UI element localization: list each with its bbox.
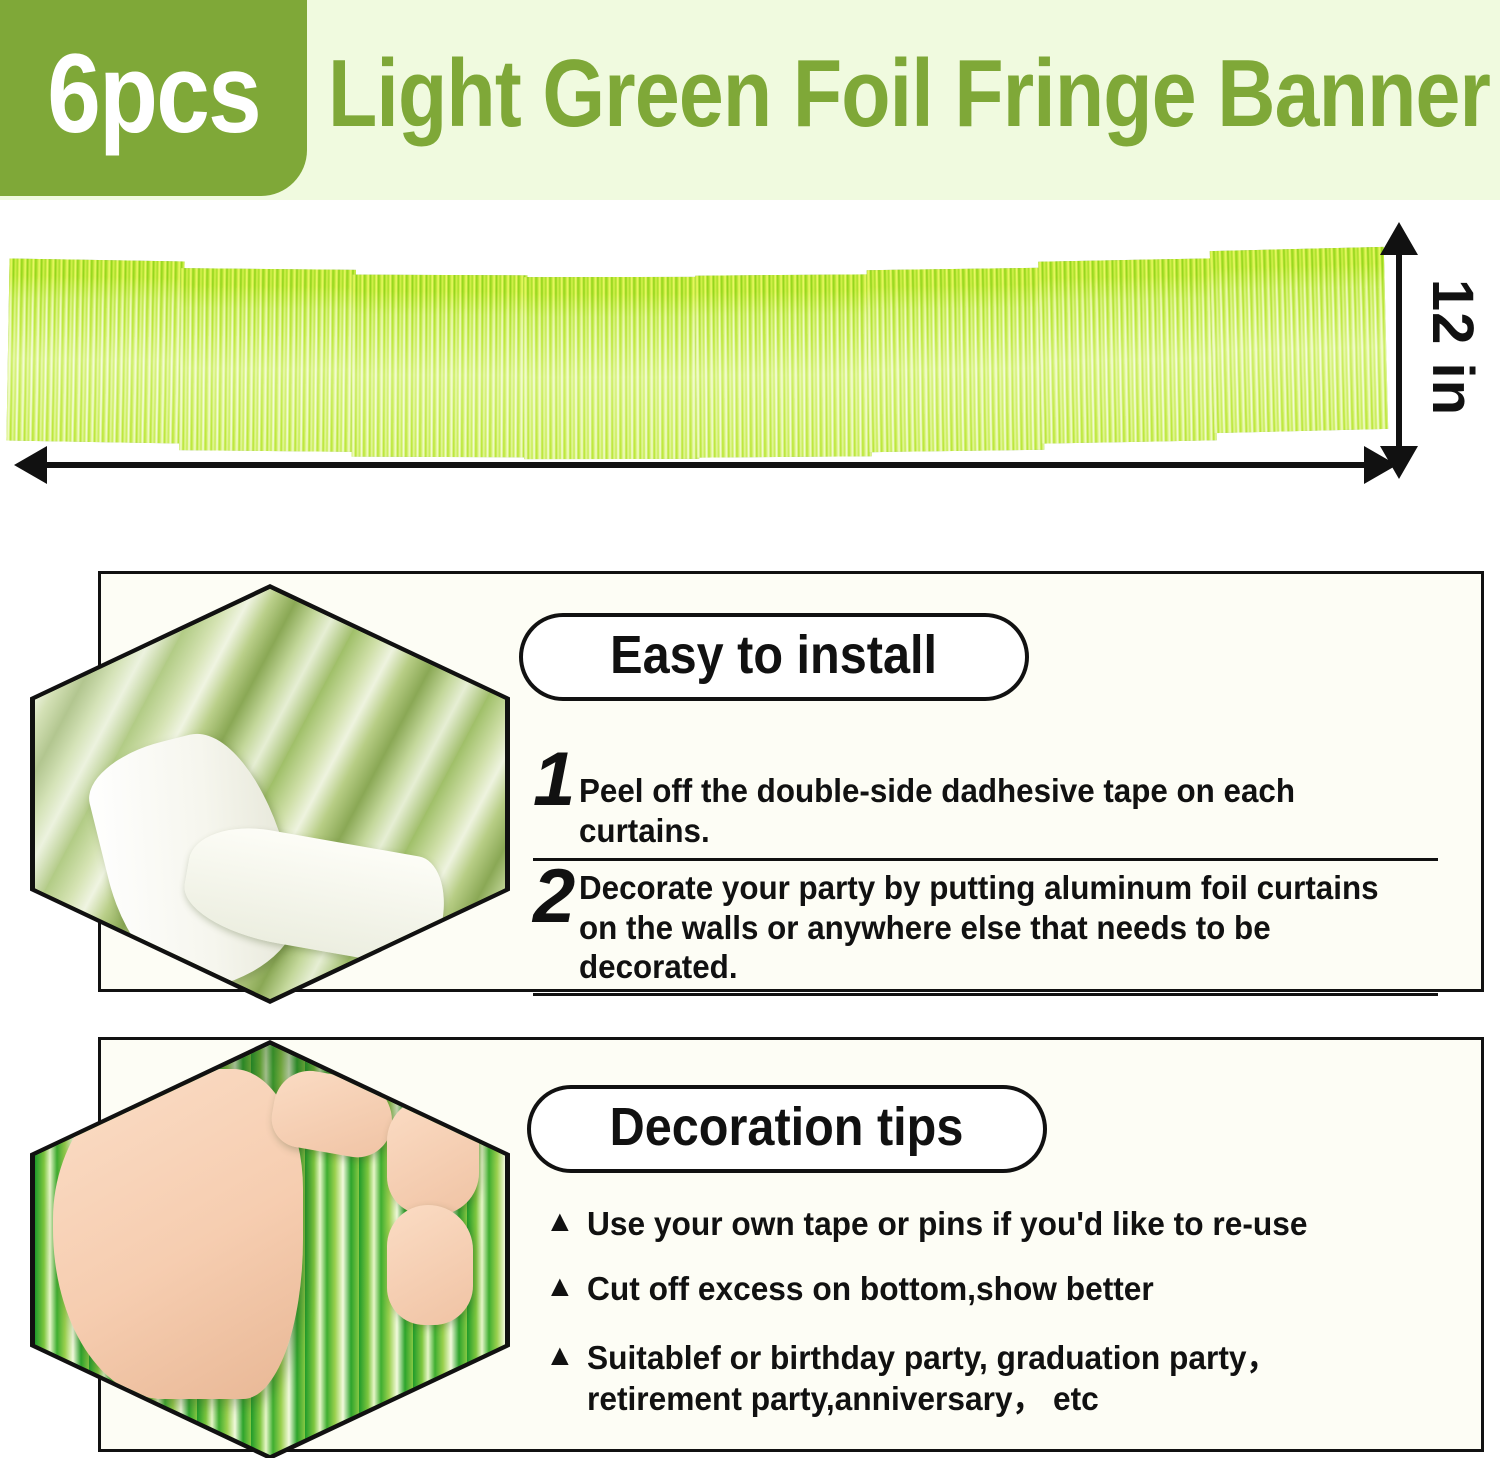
- install-heading-text: Easy to install: [611, 628, 938, 686]
- finger-3: [387, 1205, 473, 1325]
- width-arrow-left-head: [14, 446, 47, 484]
- quantity-badge: 6pcs: [0, 0, 307, 196]
- quantity-badge-label: 6pcs: [47, 38, 260, 158]
- install-step-2: 2 Decorate your party by putting aluminu…: [533, 862, 1438, 996]
- header-band: 6pcs Light Green Foil Fringe Banner: [0, 0, 1500, 200]
- height-dimension-label: 12 in: [1420, 278, 1487, 415]
- tip-item-1: ▲ Use your own tape or pins if you'd lik…: [545, 1203, 1425, 1244]
- page-title: Light Green Foil Fringe Banner: [328, 0, 1500, 196]
- product-dimension-diagram: 10 ft: [0, 200, 1500, 560]
- install-heading-pill: Easy to install: [519, 613, 1029, 701]
- install-step-2-text: Decorate your party by putting aluminum …: [579, 862, 1395, 987]
- height-dimension-label-wrap: 12 in: [1408, 232, 1498, 462]
- tip-item-2-text: Cut off excess on bottom,show better: [587, 1268, 1154, 1309]
- triangle-bullet-icon: ▲: [545, 1203, 575, 1241]
- tip-item-1-text: Use your own tape or pins if you'd like …: [587, 1203, 1307, 1244]
- fringe-banner-photo: [8, 248, 1386, 448]
- height-dimension-arrow: [1396, 252, 1402, 450]
- product-infographic: 6pcs Light Green Foil Fringe Banner 10 f…: [0, 0, 1500, 1458]
- install-step-1-text: Peel off the double-side dadhesive tape …: [579, 745, 1395, 850]
- triangle-bullet-icon: ▲: [545, 1337, 575, 1375]
- install-step-1: 1 Peel off the double-side dadhesive tap…: [533, 745, 1438, 861]
- triangle-bullet-icon: ▲: [545, 1268, 575, 1306]
- install-step-1-number: 1: [533, 745, 575, 815]
- install-step-2-number: 2: [533, 862, 575, 932]
- tips-heading-pill: Decoration tips: [527, 1085, 1047, 1173]
- page-title-text: Light Green Foil Fringe Banner: [328, 46, 1490, 150]
- tip-item-2: ▲ Cut off excess on bottom,show better: [545, 1268, 1425, 1309]
- tip-item-3-text: Suitablef or birthday party, graduation …: [587, 1337, 1401, 1420]
- tips-heading-text: Decoration tips: [610, 1100, 964, 1158]
- hand-shape: [53, 1069, 303, 1399]
- width-dimension-arrow: [40, 462, 1370, 468]
- tip-item-3: ▲ Suitablef or birthday party, graduatio…: [545, 1337, 1435, 1420]
